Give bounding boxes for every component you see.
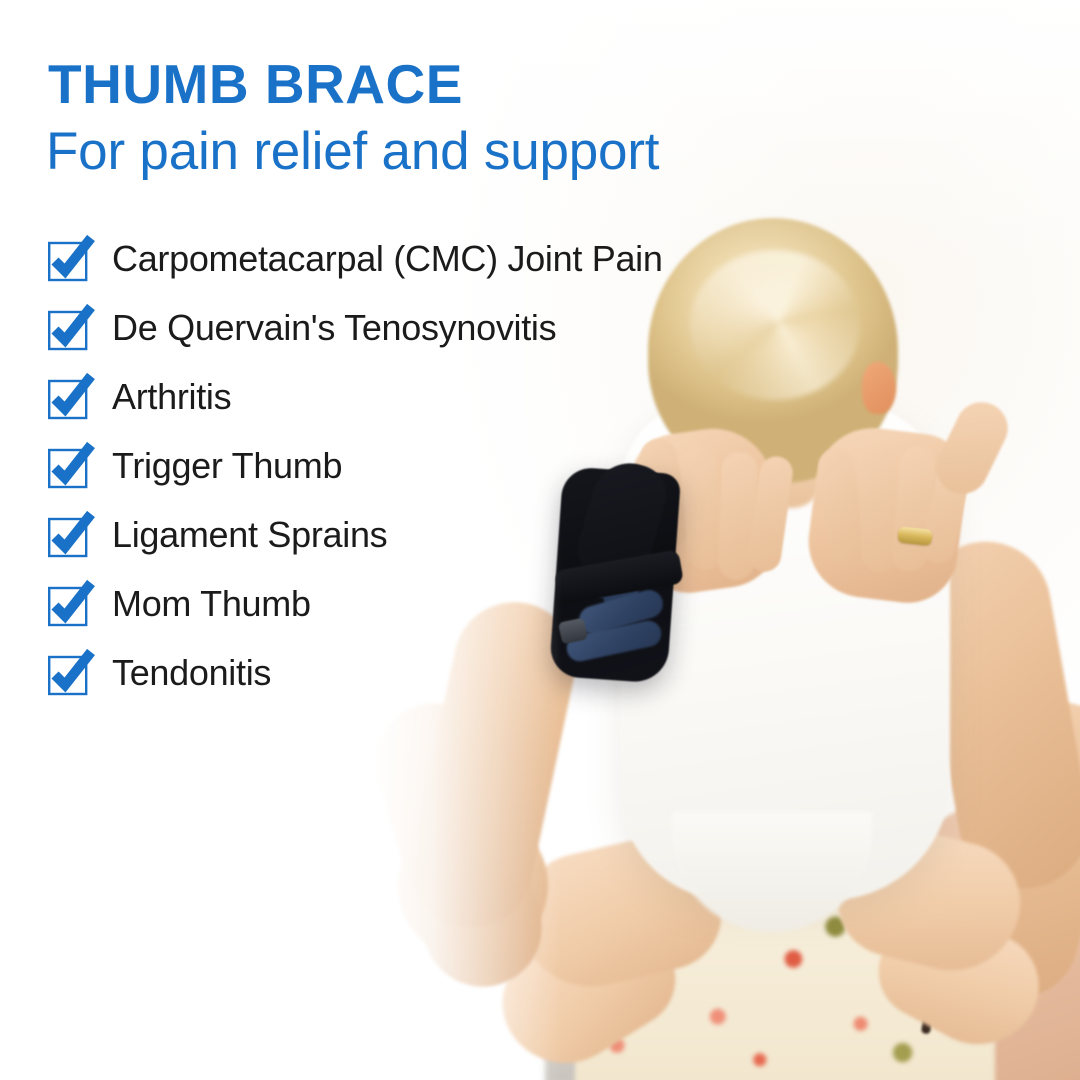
list-item-label: Carpometacarpal (CMC) Joint Pain	[112, 238, 663, 280]
checklist-item-6: Mom Thumb	[48, 569, 663, 638]
list-item-label: Trigger Thumb	[112, 445, 342, 487]
checked-checkbox-icon	[48, 237, 92, 281]
list-item-label: Tendonitis	[112, 652, 271, 694]
checked-checkbox-icon	[48, 306, 92, 350]
list-item-label: Arthritis	[112, 376, 231, 418]
list-item-label: De Quervain's Tenosynovitis	[112, 307, 556, 349]
page-subtitle: For pain relief and support	[46, 125, 659, 178]
checklist-item-3: Arthritis	[48, 362, 663, 431]
checked-checkbox-icon	[48, 582, 92, 626]
checklist-item-2: De Quervain's Tenosynovitis	[48, 293, 663, 362]
page-title: THUMB BRACE	[48, 57, 463, 112]
checklist-item-4: Trigger Thumb	[48, 431, 663, 500]
checked-checkbox-icon	[48, 513, 92, 557]
list-item-label: Mom Thumb	[112, 583, 311, 625]
benefits-checklist: Carpometacarpal (CMC) Joint Pain De Quer…	[48, 224, 663, 707]
checked-checkbox-icon	[48, 651, 92, 695]
list-item-label: Ligament Sprains	[112, 514, 387, 556]
checked-checkbox-icon	[48, 444, 92, 488]
text-overlay: THUMB BRACE For pain relief and support …	[0, 0, 1080, 1080]
checklist-item-7: Tendonitis	[48, 638, 663, 707]
checked-checkbox-icon	[48, 375, 92, 419]
checklist-item-5: Ligament Sprains	[48, 500, 663, 569]
product-infographic: THUMB BRACE For pain relief and support …	[0, 0, 1080, 1080]
checklist-item-1: Carpometacarpal (CMC) Joint Pain	[48, 224, 663, 293]
